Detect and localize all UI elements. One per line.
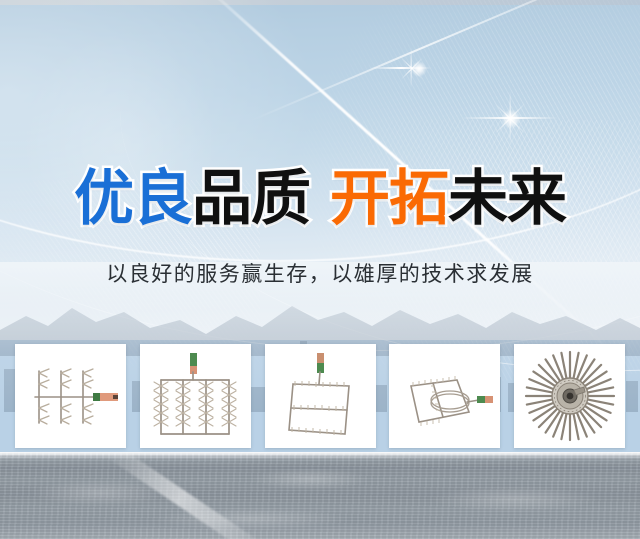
page-title: 优良品质开拓未来	[0, 166, 640, 232]
star-flare-secondary-icon	[418, 68, 420, 70]
ground-blotch	[150, 508, 350, 530]
flare-ray	[370, 67, 432, 69]
product-thumbnail-strip	[15, 344, 625, 448]
page-subtitle: 以良好的服务赢生存，以雄厚的技术求发展	[0, 258, 640, 288]
ground-blotch	[250, 468, 370, 490]
product-card-4[interactable]	[389, 344, 500, 448]
headline-segment-black-1: 品质	[192, 164, 310, 234]
headline-segment-orange: 开拓	[330, 164, 448, 234]
product-card-3[interactable]	[265, 344, 376, 448]
ground-blotch	[430, 486, 600, 512]
promo-banner: 优良品质开拓未来 以良好的服务赢生存，以雄厚的技术求发展	[0, 0, 640, 539]
product-card-1[interactable]	[15, 344, 126, 448]
ground-blotch	[30, 480, 170, 506]
product-card-2[interactable]	[140, 344, 251, 448]
headline-segment-blue: 优良	[74, 164, 192, 234]
headline-segment-black-2: 未来	[448, 164, 566, 234]
ground-top-highlight	[0, 452, 640, 456]
ring-frame-rack-icon	[395, 356, 495, 436]
star-flare-icon	[510, 118, 512, 120]
frame-rack-icon	[273, 350, 367, 442]
concrete-ground	[0, 452, 640, 539]
sunburst-rack-icon	[524, 350, 616, 442]
product-card-5[interactable]	[514, 344, 625, 448]
spike-rack-icon	[147, 350, 243, 442]
comb-rack-icon	[21, 353, 121, 439]
